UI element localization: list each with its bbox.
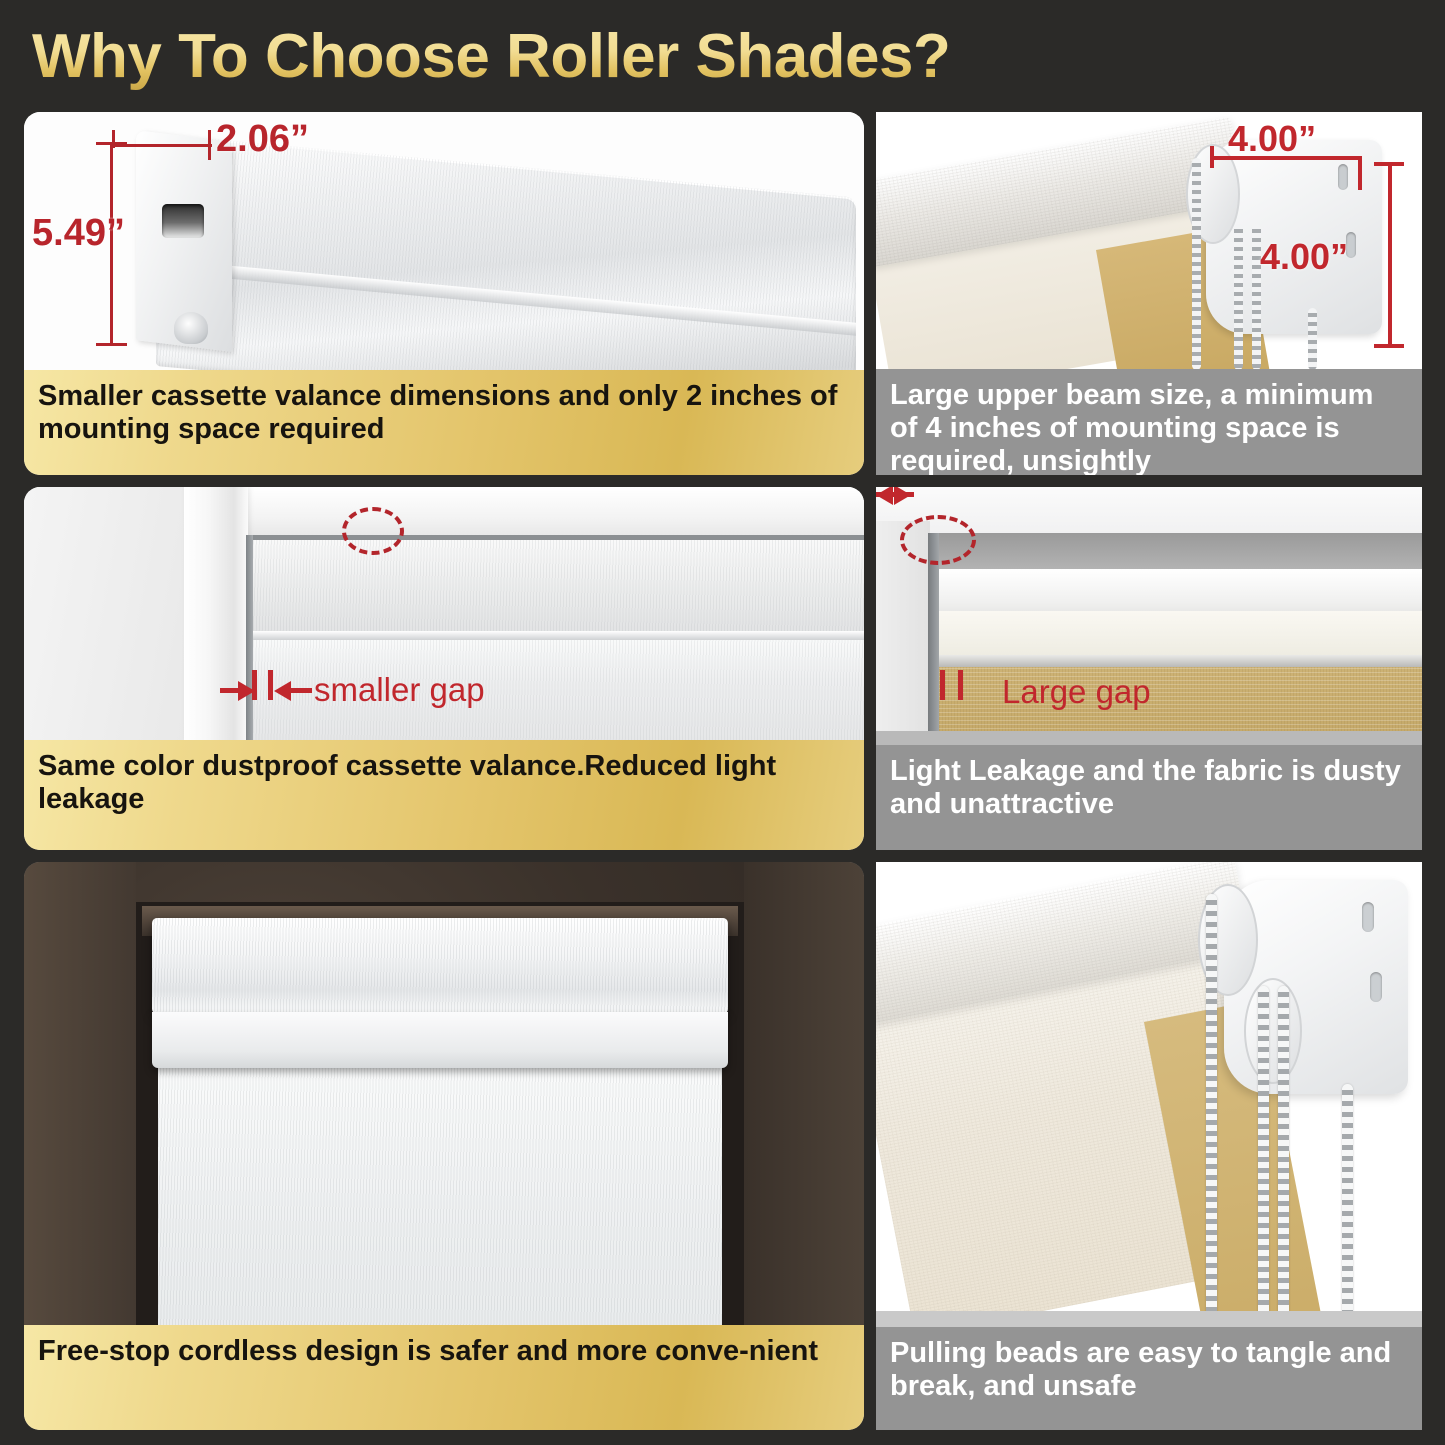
endcap-screw bbox=[174, 312, 208, 344]
cassette-valance bbox=[152, 918, 728, 1014]
panel-3-photo: smaller gap bbox=[24, 487, 864, 740]
gap-label: smaller gap bbox=[314, 671, 485, 709]
width-dimension-tick-left bbox=[112, 130, 115, 148]
panel-smaller-gap: smaller gap Same color dustproof cassett… bbox=[24, 487, 864, 850]
window-frame-top bbox=[184, 487, 864, 539]
panel-2-caption: Large upper beam size, a minimum of 4 in… bbox=[876, 369, 1422, 475]
height-dimension-line bbox=[1388, 162, 1392, 348]
height-dimension-label: 4.00” bbox=[1260, 236, 1348, 278]
shade-rail bbox=[248, 631, 864, 640]
width-dimension-label: 4.00” bbox=[1228, 118, 1316, 160]
panel-4-caption-text: Light Leakage and the fabric is dusty an… bbox=[890, 755, 1408, 821]
shade-top-edge bbox=[248, 535, 864, 540]
panel-6-photo bbox=[876, 862, 1422, 1327]
shade-upper-panel bbox=[248, 537, 864, 633]
bead-chain bbox=[1308, 308, 1317, 369]
panel-1-photo: 2.06” 5.49” bbox=[24, 112, 864, 370]
panel-large-gap: Large gap Light Leakage and the fabric i… bbox=[876, 487, 1422, 850]
panel-3-caption-text: Same color dustproof cassette valance.Re… bbox=[38, 750, 850, 816]
beam-bottom-edge bbox=[928, 655, 1422, 667]
height-dimension-tick-bottom bbox=[1374, 344, 1404, 348]
height-dimension-tick-top bbox=[1374, 162, 1404, 166]
dashed-highlight-circle-icon bbox=[342, 507, 404, 555]
bead-chain bbox=[1278, 986, 1289, 1324]
infographic-page: Why To Choose Roller Shades? 2.06” bbox=[0, 0, 1445, 1445]
panel-2-caption-text: Large upper beam size, a minimum of 4 in… bbox=[890, 379, 1408, 475]
panel-large-upper-beam: 4.00” 4.00” Large upper beam size, a min… bbox=[876, 112, 1422, 475]
height-dimension-tick-bottom bbox=[96, 343, 127, 346]
wall-left bbox=[24, 862, 136, 1325]
panel-cordless-design: Free-stop cordless design is safer and m… bbox=[24, 862, 864, 1430]
panel-4-photo: Large gap bbox=[876, 487, 1422, 745]
floor bbox=[876, 1311, 1422, 1327]
bead-chain bbox=[1206, 894, 1217, 1324]
panel-2-photo: 4.00” 4.00” bbox=[876, 112, 1422, 369]
panel-pulling-beads: Pulling beads are easy to tangle and bre… bbox=[876, 862, 1422, 1430]
width-dimension-tick-right bbox=[208, 130, 211, 160]
wall-right bbox=[744, 862, 864, 1325]
panel-1-caption: Smaller cassette valance dimensions and … bbox=[24, 370, 864, 475]
gap-shadow bbox=[246, 535, 253, 740]
large-beam-roller-illustration: 4.00” 4.00” bbox=[876, 112, 1422, 369]
page-title: Why To Choose Roller Shades? bbox=[32, 18, 1032, 94]
room-window-scene bbox=[24, 862, 864, 1325]
beam-face bbox=[928, 611, 1422, 657]
panel-4-caption: Light Leakage and the fabric is dusty an… bbox=[876, 745, 1422, 850]
bead-chain-roller-illustration bbox=[876, 862, 1422, 1327]
valance-body bbox=[156, 134, 856, 370]
width-dimension-line bbox=[112, 144, 212, 147]
floor bbox=[876, 731, 1422, 745]
cassette-valance-illustration: 2.06” 5.49” bbox=[24, 112, 864, 370]
panel-6-caption-text: Pulling beads are easy to tangle and bre… bbox=[890, 1337, 1408, 1403]
page-title-text: Why To Choose Roller Shades? bbox=[32, 21, 950, 92]
panel-1-caption-text: Smaller cassette valance dimensions and … bbox=[38, 380, 850, 446]
width-dimension-label: 2.06” bbox=[216, 118, 309, 161]
gap-label: Large gap bbox=[1002, 673, 1151, 711]
endcap-slot bbox=[162, 204, 204, 238]
panel-5-caption-text: Free-stop cordless design is safer and m… bbox=[38, 1335, 818, 1368]
gap-tick-right bbox=[268, 670, 273, 700]
comparison-grid: 2.06” 5.49” Smaller cassette valance dim… bbox=[24, 112, 1422, 1430]
window-frame-shade-illustration: smaller gap bbox=[24, 487, 864, 740]
dashed-highlight-circle-icon bbox=[900, 515, 976, 565]
panel-5-caption: Free-stop cordless design is safer and m… bbox=[24, 1325, 864, 1430]
shadow-band bbox=[928, 533, 1422, 573]
gap-tick-right bbox=[958, 670, 963, 700]
panel-5-photo bbox=[24, 862, 864, 1325]
cassette-lip bbox=[152, 1012, 728, 1068]
width-dimension-tick-left bbox=[1210, 146, 1214, 168]
panel-6-caption: Pulling beads are easy to tangle and bre… bbox=[876, 1327, 1422, 1430]
roller-endwheel-lower bbox=[1244, 978, 1302, 1084]
bead-chain bbox=[1258, 986, 1269, 1324]
bead-chain bbox=[1342, 1084, 1353, 1324]
panel-smaller-cassette: 2.06” 5.49” Smaller cassette valance dim… bbox=[24, 112, 864, 475]
window-frame-side bbox=[184, 487, 248, 740]
gap-tick-left bbox=[940, 670, 945, 700]
wall bbox=[24, 487, 204, 740]
light-leakage-illustration: Large gap bbox=[876, 487, 1422, 745]
panel-3-caption: Same color dustproof cassette valance.Re… bbox=[24, 740, 864, 850]
bead-chain bbox=[1192, 158, 1201, 369]
width-dimension-tick-right bbox=[1358, 156, 1362, 190]
roller-shade-fabric bbox=[158, 1068, 722, 1325]
bead-chain bbox=[1234, 224, 1243, 369]
height-dimension-label: 5.49” bbox=[32, 212, 125, 255]
